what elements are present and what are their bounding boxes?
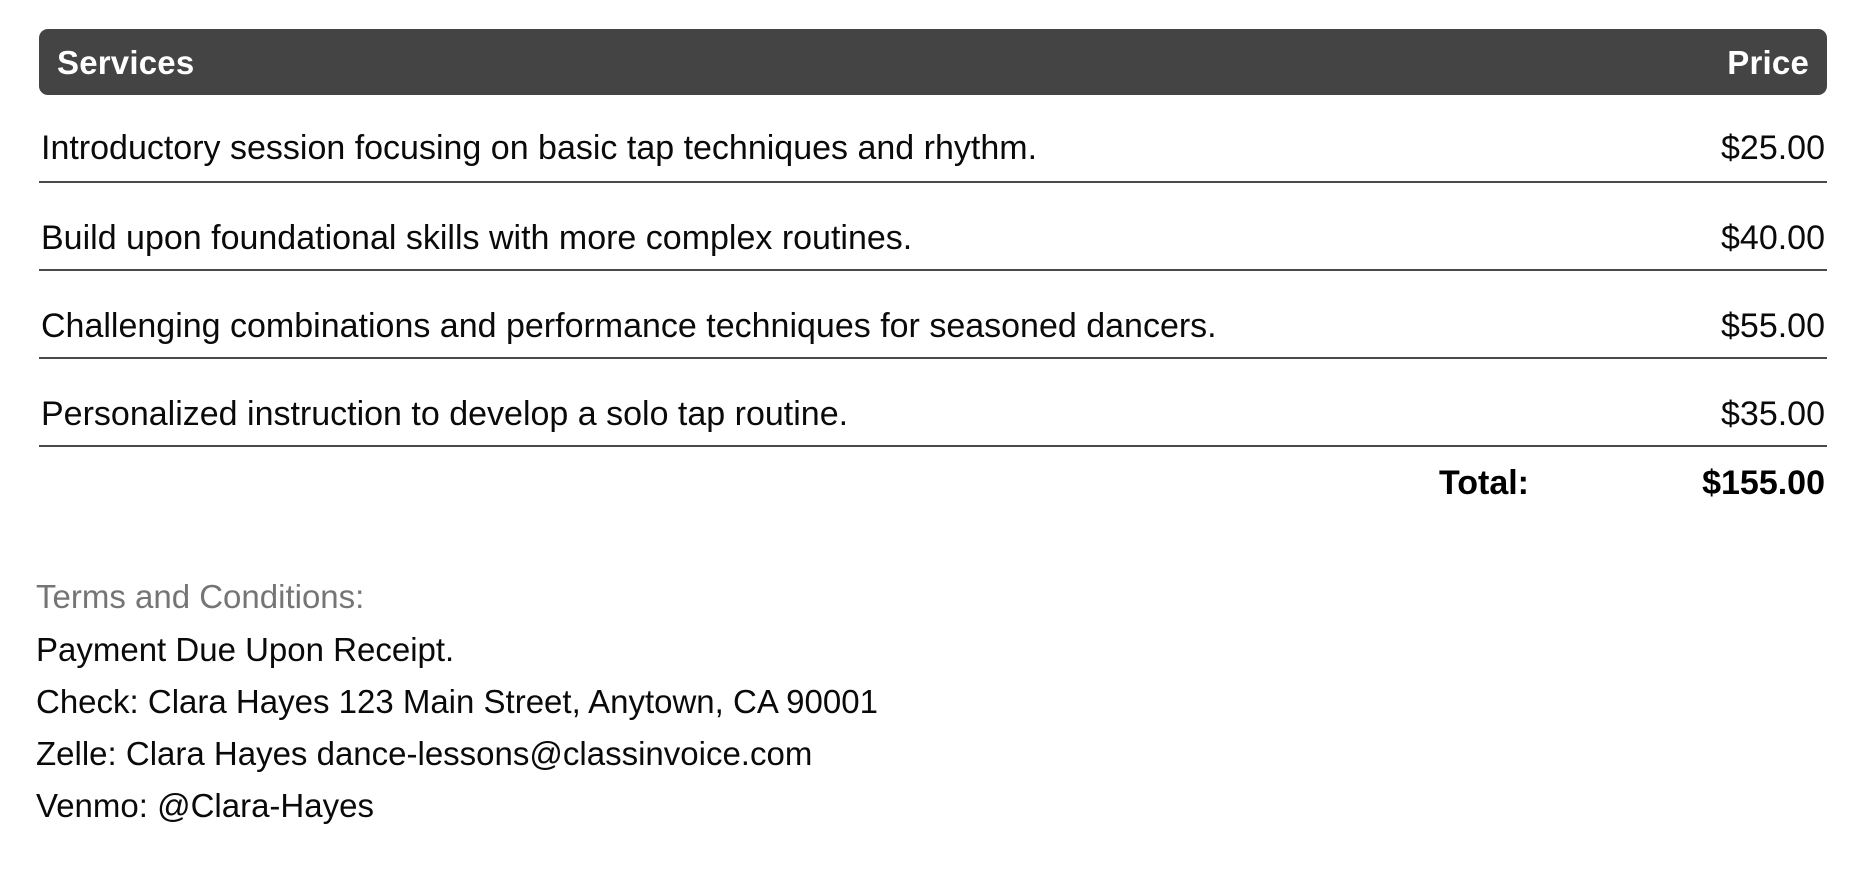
table-row: Challenging combinations and performance… xyxy=(39,271,1827,359)
service-description: Personalized instruction to develop a so… xyxy=(41,396,848,433)
service-price: $55.00 xyxy=(1721,308,1825,345)
table-row: Introductory session focusing on basic t… xyxy=(39,95,1827,183)
table-row: Build upon foundational skills with more… xyxy=(39,183,1827,271)
service-description: Build upon foundational skills with more… xyxy=(41,220,912,257)
terms-line-zelle: Zelle: Clara Hayes dance-lessons@classin… xyxy=(36,737,1436,770)
terms-line-check: Check: Clara Hayes 123 Main Street, Anyt… xyxy=(36,685,1436,718)
column-header-services: Services xyxy=(57,46,194,79)
service-price: $35.00 xyxy=(1721,396,1825,433)
total-label: Total: xyxy=(1439,464,1529,503)
table-body: Introductory session focusing on basic t… xyxy=(39,95,1827,519)
services-table: Services Price Introductory session focu… xyxy=(39,29,1827,519)
terms-heading: Terms and Conditions: xyxy=(36,580,1436,613)
table-row: Personalized instruction to develop a so… xyxy=(39,359,1827,447)
terms-and-conditions-section: Terms and Conditions: Payment Due Upon R… xyxy=(36,580,1436,822)
terms-line-venmo: Venmo: @Clara-Hayes xyxy=(36,789,1436,822)
invoice-services-section: Services Price Introductory session focu… xyxy=(0,0,1868,870)
terms-line-payment-due: Payment Due Upon Receipt. xyxy=(36,633,1436,666)
column-header-price: Price xyxy=(1727,46,1809,79)
service-price: $25.00 xyxy=(1721,130,1825,167)
total-value: $155.00 xyxy=(1625,464,1825,503)
service-price: $40.00 xyxy=(1721,220,1825,257)
service-description: Challenging combinations and performance… xyxy=(41,308,1217,345)
table-header-row: Services Price xyxy=(39,29,1827,95)
total-row: Total: $155.00 xyxy=(39,447,1827,519)
service-description: Introductory session focusing on basic t… xyxy=(41,130,1037,167)
